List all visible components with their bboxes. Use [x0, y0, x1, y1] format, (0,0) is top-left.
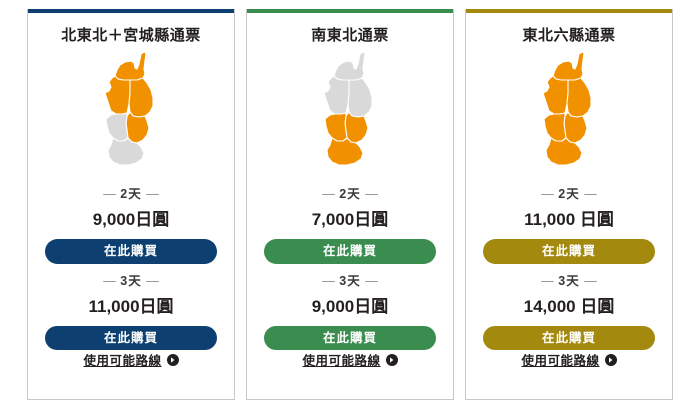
tohoku-map [247, 49, 453, 177]
map-region-aomori [115, 52, 146, 80]
buy-button-3day[interactable]: 在此購買 [483, 326, 655, 351]
plan-duration-label: 2天 [120, 187, 141, 201]
plan-price: 11,000日圓 [88, 292, 173, 317]
map-region-akita [324, 76, 349, 114]
dash-left: — [322, 187, 335, 201]
map-region-miyagi [345, 112, 368, 143]
plan-duration-row: — 2天 — [103, 183, 158, 202]
arrow-right-circle-icon [386, 354, 398, 366]
dash-right: — [365, 274, 378, 288]
card-accent-bar [466, 9, 672, 13]
dash-left: — [103, 274, 116, 288]
dash-right: — [584, 274, 597, 288]
buy-button-3day[interactable]: 在此購買 [264, 326, 436, 351]
ticket-card-grid: 北東北＋宮城縣通票 — [0, 0, 700, 412]
plan-duration-row: — 2天 — [322, 183, 377, 202]
arrow-right-circle-icon [605, 354, 617, 366]
plan-duration-row: — 3天 — [322, 270, 377, 289]
dash-right: — [146, 274, 159, 288]
plan-duration-label: 3天 [120, 274, 141, 288]
dash-right: — [584, 187, 597, 201]
available-routes-label: 使用可能路線 [521, 350, 599, 369]
plan-duration-row: — 2天 — [541, 183, 596, 202]
ticket-card-minami-tohoku: 南東北通票 — 2天 — 7,000日圓 在此購買 — 3天 [246, 9, 454, 400]
buy-button-2day[interactable]: 在此購買 [264, 239, 436, 264]
map-region-yamagata [544, 113, 566, 141]
ticket-card-kita-tohoku-miyagi: 北東北＋宮城縣通票 — [27, 9, 235, 400]
plan-price: 7,000日圓 [312, 205, 389, 230]
dash-right: — [146, 187, 159, 201]
map-region-aomori [553, 52, 584, 80]
map-region-yamagata [106, 113, 128, 141]
available-routes-label: 使用可能路線 [302, 350, 380, 369]
dash-left: — [541, 274, 554, 288]
plan-duration-label: 2天 [339, 187, 360, 201]
dash-left: — [103, 187, 116, 201]
map-region-miyagi [126, 112, 149, 143]
available-routes-link[interactable]: 使用可能路線 [521, 350, 616, 369]
map-region-iwate [129, 78, 153, 117]
plan-price: 9,000日圓 [93, 205, 170, 230]
card-title: 東北六縣通票 [522, 27, 615, 45]
dash-right: — [365, 187, 378, 201]
available-routes-label: 使用可能路線 [83, 350, 161, 369]
ticket-card-tohoku-six: 東北六縣通票 — 2天 — 11,000 日圓 在此購買 — 3天 [465, 9, 673, 400]
dash-left: — [541, 187, 554, 201]
plan-duration-label: 2天 [558, 187, 579, 201]
tohoku-map-svg [525, 49, 613, 177]
map-region-akita [543, 76, 568, 114]
plan-duration-row: — 3天 — [541, 270, 596, 289]
plan-price: 14,000 日圓 [524, 292, 615, 317]
map-region-iwate [348, 78, 372, 117]
card-accent-bar [28, 9, 234, 13]
map-region-akita [105, 76, 130, 114]
available-routes-link[interactable]: 使用可能路線 [83, 350, 178, 369]
map-region-yamagata [325, 113, 347, 141]
available-routes-link[interactable]: 使用可能路線 [302, 350, 397, 369]
tohoku-map [28, 49, 234, 177]
buy-button-3day[interactable]: 在此購買 [45, 326, 217, 351]
map-region-aomori [334, 52, 365, 80]
plan-price: 11,000 日圓 [524, 205, 614, 230]
card-accent-bar [247, 9, 453, 13]
card-title: 南東北通票 [311, 27, 389, 45]
dash-left: — [322, 274, 335, 288]
plan-duration-row: — 3天 — [103, 270, 158, 289]
tohoku-map-svg [87, 49, 175, 177]
card-title: 北東北＋宮城縣通票 [61, 27, 201, 45]
plan-duration-label: 3天 [339, 274, 360, 288]
map-region-miyagi [564, 112, 587, 143]
buy-button-2day[interactable]: 在此購買 [45, 239, 217, 264]
tohoku-map [466, 49, 672, 177]
buy-button-2day[interactable]: 在此購買 [483, 239, 655, 264]
plan-price: 9,000日圓 [312, 292, 389, 317]
tohoku-map-svg [306, 49, 394, 177]
arrow-right-circle-icon [167, 354, 179, 366]
plan-duration-label: 3天 [558, 274, 579, 288]
map-region-iwate [567, 78, 591, 117]
